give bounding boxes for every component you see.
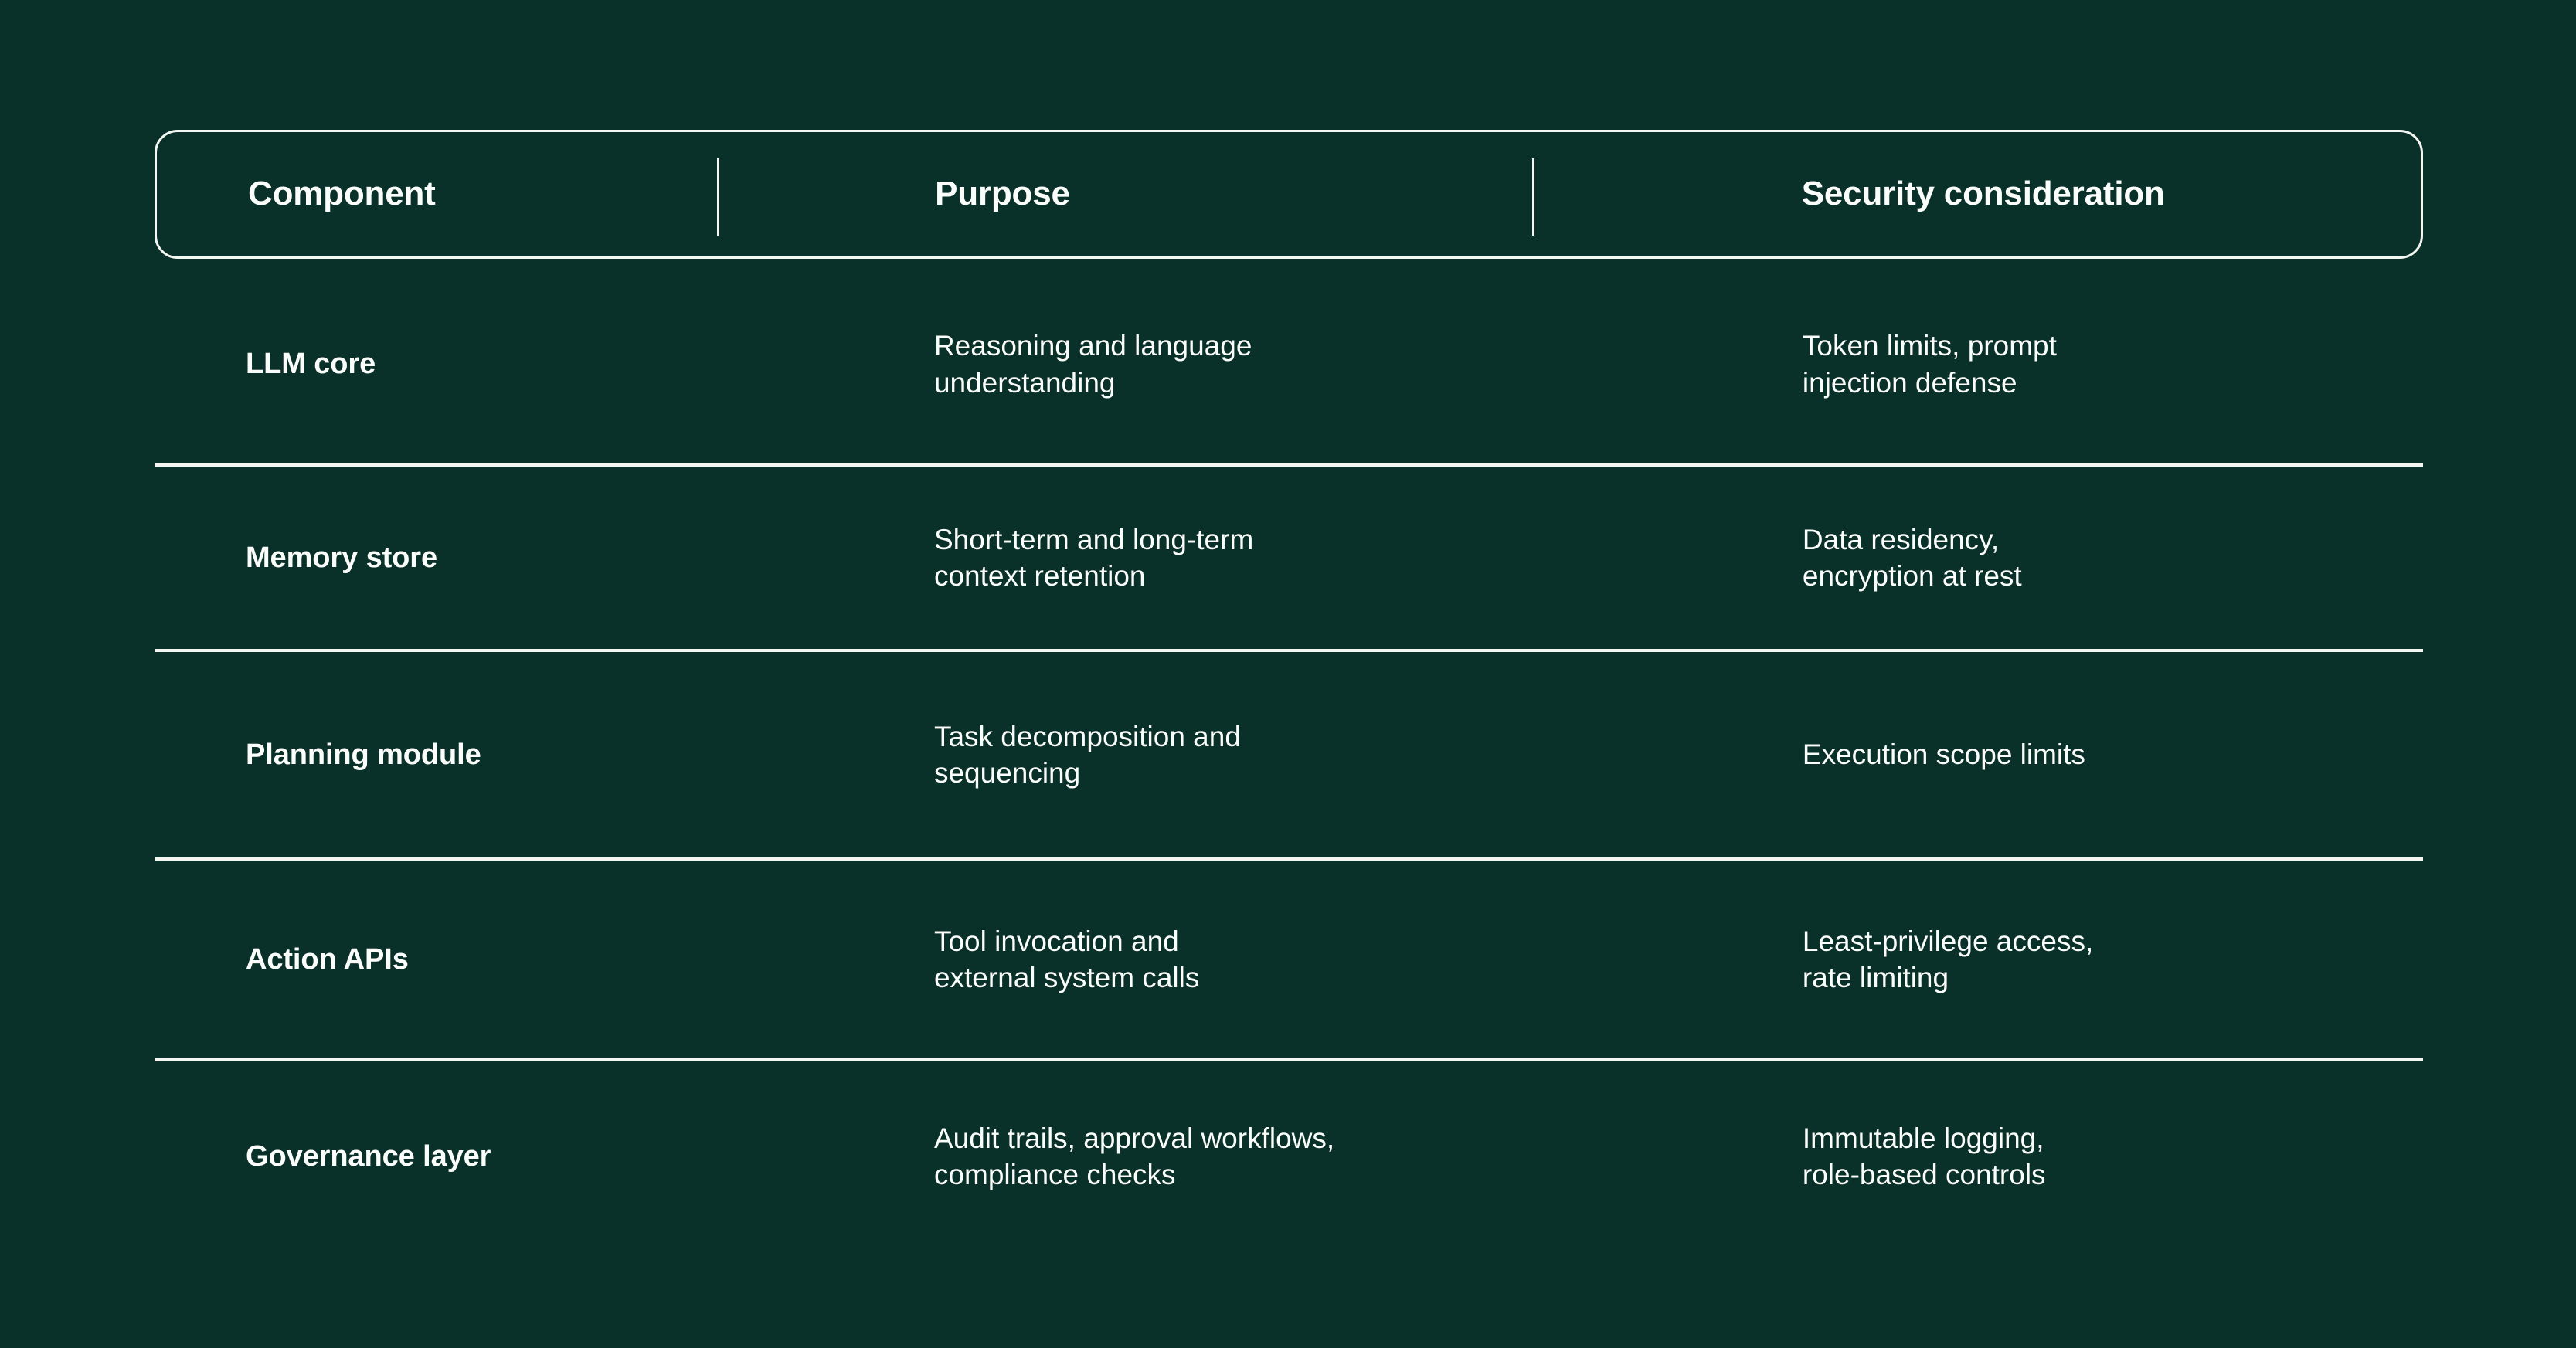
cell-security-line: rate limiting bbox=[1803, 959, 2423, 996]
cell-purpose-line: understanding bbox=[934, 365, 1718, 401]
cell-purpose: Reasoning and language understanding bbox=[844, 328, 1718, 401]
column-header-security-consideration: Security consideration bbox=[1717, 175, 2421, 212]
table-row: Action APIs Tool invocation and external… bbox=[155, 857, 2423, 1058]
cell-purpose-line: sequencing bbox=[934, 755, 1718, 791]
cell-component: Planning module bbox=[155, 736, 844, 774]
cell-purpose: Tool invocation and external system call… bbox=[844, 923, 1718, 997]
cell-security-line: Execution scope limits bbox=[1803, 736, 2423, 772]
cell-security-consideration: Execution scope limits bbox=[1718, 736, 2423, 772]
table-row: Planning module Task decomposition and s… bbox=[155, 649, 2423, 857]
table-row: LLM core Reasoning and language understa… bbox=[155, 259, 2423, 463]
column-header-component: Component bbox=[157, 175, 845, 212]
cell-security-line: Immutable logging, bbox=[1803, 1120, 2423, 1156]
cell-component: Memory store bbox=[155, 539, 844, 577]
cell-purpose-line: Audit trails, approval workflows, bbox=[934, 1120, 1718, 1156]
cell-component: Action APIs bbox=[155, 941, 844, 979]
table-row: Memory store Short-term and long-term co… bbox=[155, 463, 2423, 649]
cell-purpose-line: Reasoning and language bbox=[934, 328, 1718, 364]
cell-purpose: Audit trails, approval workflows, compli… bbox=[844, 1120, 1718, 1194]
header-column-divider-1 bbox=[717, 158, 719, 236]
cell-security-line: role-based controls bbox=[1803, 1156, 2423, 1193]
cell-component: LLM core bbox=[155, 345, 844, 383]
cell-security-line: encryption at rest bbox=[1803, 558, 2423, 594]
cell-component: Governance layer bbox=[155, 1138, 844, 1176]
cell-security-line: Token limits, prompt bbox=[1803, 328, 2423, 364]
table-header-row: Component Purpose Security consideration bbox=[155, 130, 2423, 259]
cell-purpose: Short-term and long-term context retenti… bbox=[844, 521, 1718, 595]
cell-security-line: Data residency, bbox=[1803, 521, 2423, 558]
cell-purpose-line: Short-term and long-term bbox=[934, 521, 1718, 558]
page-root: Component Purpose Security consideration… bbox=[0, 0, 2576, 1348]
cell-security-consideration: Least-privilege access, rate limiting bbox=[1718, 923, 2423, 997]
column-header-purpose: Purpose bbox=[845, 175, 1717, 212]
cell-security-consideration: Immutable logging, role-based controls bbox=[1718, 1120, 2423, 1194]
cell-purpose-line: compliance checks bbox=[934, 1156, 1718, 1193]
table-row: Governance layer Audit trails, approval … bbox=[155, 1058, 2423, 1251]
cell-purpose-line: Task decomposition and bbox=[934, 718, 1718, 755]
cell-security-consideration: Token limits, prompt injection defense bbox=[1718, 328, 2423, 401]
cell-security-line: Least-privilege access, bbox=[1803, 923, 2423, 959]
header-column-divider-2 bbox=[1532, 158, 1534, 236]
component-security-table: Component Purpose Security consideration… bbox=[155, 130, 2423, 1251]
cell-purpose: Task decomposition and sequencing bbox=[844, 718, 1718, 792]
cell-purpose-line: Tool invocation and bbox=[934, 923, 1718, 959]
table-body: LLM core Reasoning and language understa… bbox=[155, 259, 2423, 1251]
cell-security-consideration: Data residency, encryption at rest bbox=[1718, 521, 2423, 595]
cell-purpose-line: external system calls bbox=[934, 959, 1718, 996]
cell-security-line: injection defense bbox=[1803, 365, 2423, 401]
cell-purpose-line: context retention bbox=[934, 558, 1718, 594]
